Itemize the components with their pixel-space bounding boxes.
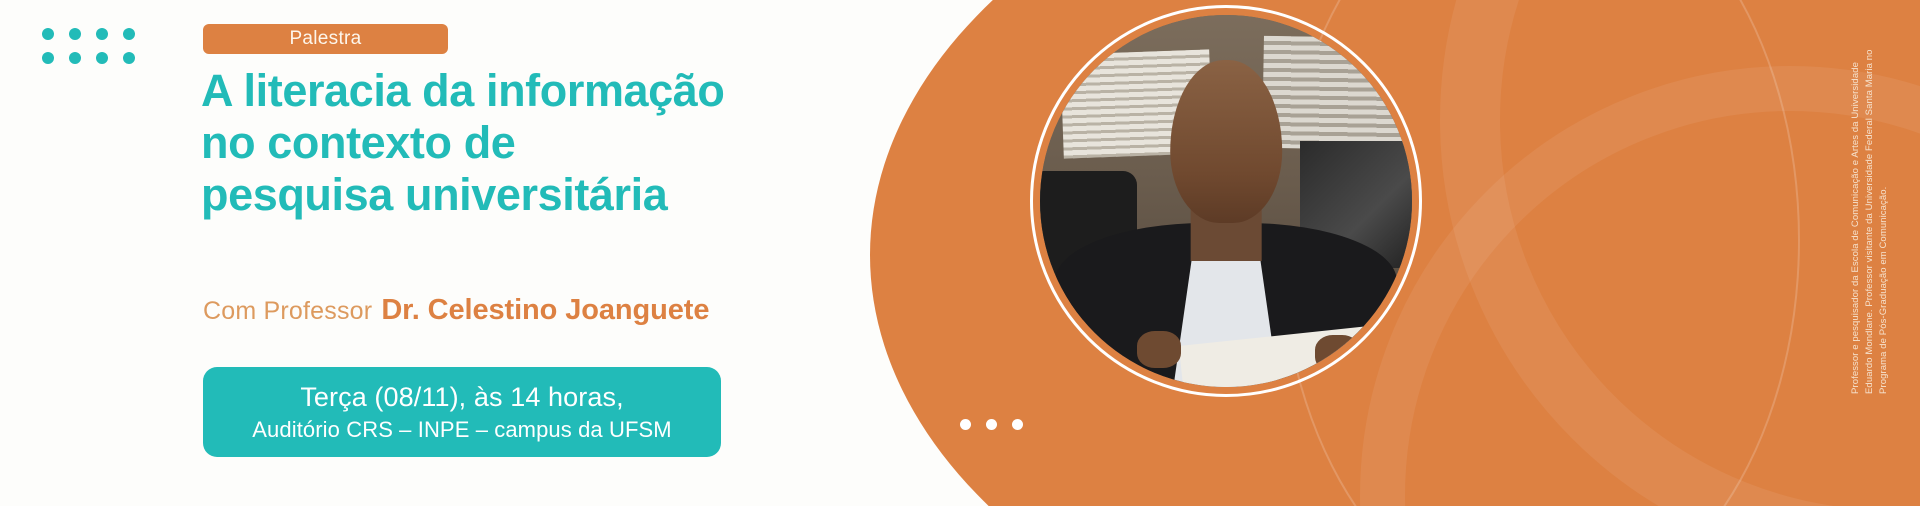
right-hand bbox=[1315, 335, 1360, 372]
event-details-box: Terça (08/11), às 14 horas, Auditório CR… bbox=[203, 367, 721, 457]
headline-line-2: no contexto de bbox=[201, 117, 841, 169]
bookshelf-right bbox=[1262, 36, 1405, 150]
headline-line-1: A literacia da informação bbox=[201, 65, 841, 117]
event-type-badge: Palestra bbox=[203, 24, 448, 54]
speaker-credit-text: Professor e pesquisador da Escola de Com… bbox=[1849, 24, 1891, 394]
speaker-name: Dr. Celestino Joanguete bbox=[381, 294, 709, 326]
event-location: Auditório CRS – INPE – campus da UFSM bbox=[203, 415, 721, 445]
speaker-line: Com ProfessorDr. Celestino Joanguete bbox=[203, 294, 709, 327]
event-datetime: Terça (08/11), às 14 horas, bbox=[203, 379, 721, 415]
speaker-prefix: Com Professor bbox=[203, 297, 372, 325]
speaker-portrait-photo bbox=[1040, 15, 1412, 387]
left-hand bbox=[1137, 331, 1182, 368]
dot bbox=[1012, 419, 1023, 430]
dot bbox=[960, 419, 971, 430]
speaker-credit-vertical: Professor e pesquisador da Escola de Com… bbox=[1848, 24, 1892, 394]
headline-line-3: pesquisa universitária bbox=[201, 169, 841, 221]
head bbox=[1170, 60, 1282, 224]
white-dot-row-icon bbox=[960, 419, 1023, 430]
page-title: A literacia da informação no contexto de… bbox=[201, 65, 841, 221]
dot bbox=[986, 419, 997, 430]
event-banner: Palestra A literacia da informação no co… bbox=[0, 0, 1920, 506]
text-content-column: Palestra A literacia da informação no co… bbox=[0, 0, 860, 506]
